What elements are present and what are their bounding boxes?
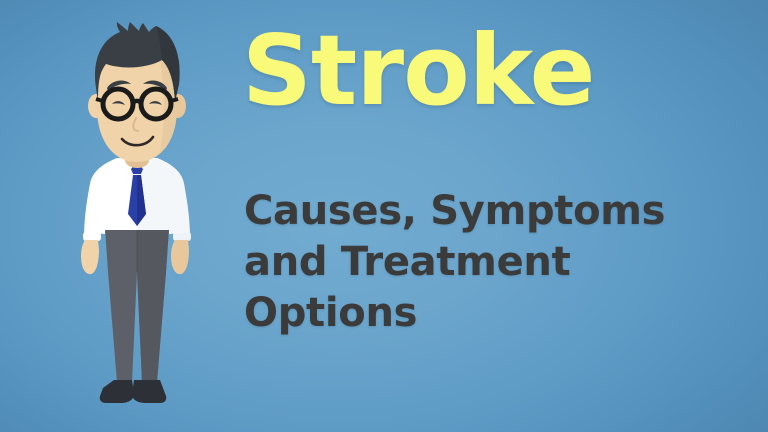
page-title: Stroke [242,22,594,119]
character-shoes [100,380,167,403]
subtitle-line-2: and Treatment [244,237,749,288]
text-block: Stroke Causes, Symptoms and Treatment Op… [236,0,756,432]
subtitle-line-1: Causes, Symptoms [244,186,749,237]
subtitle-line-3: Options [244,288,749,339]
thumbnail-canvas: Stroke Causes, Symptoms and Treatment Op… [0,0,768,432]
page-subtitle: Causes, Symptoms and Treatment Options [244,186,749,340]
character-trousers [105,228,169,382]
cartoon-businessman-illustration [62,22,212,404]
